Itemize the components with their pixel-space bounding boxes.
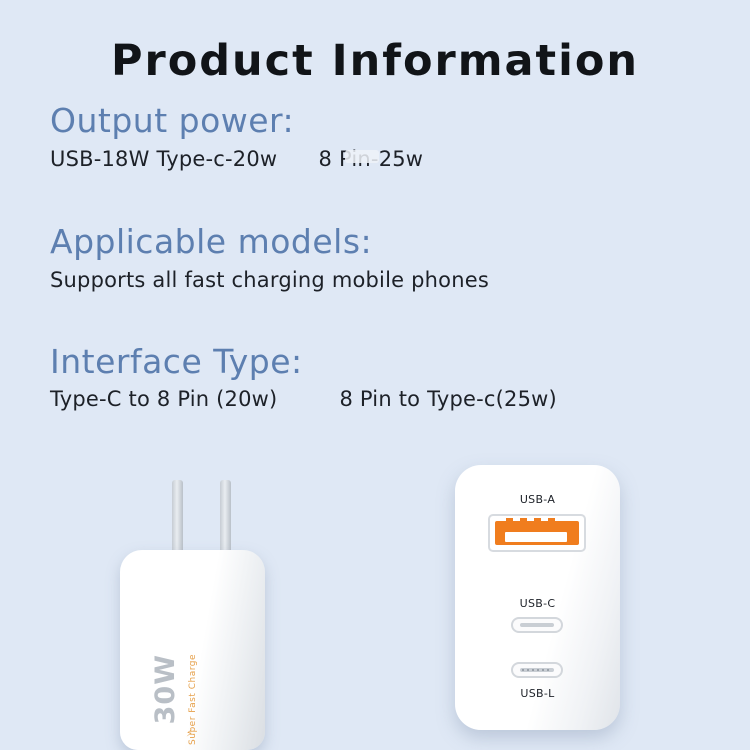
usb-c-port-icon: [511, 617, 563, 633]
interface-type-option-a: Type-C to 8 Pin (20w): [50, 387, 277, 411]
section-text-interface-type: Type-C to 8 Pin (20w)8 Pin to Type-c(25w…: [50, 387, 557, 411]
usb-a-port-icon: [488, 514, 586, 552]
usb-l-pins: [522, 669, 552, 671]
usb-c-tongue: [520, 623, 554, 627]
port-label-usb-l: USB-L: [455, 687, 620, 700]
product-information-page: Product Information Output power: USB-18…: [0, 0, 750, 750]
port-label-usb-a: USB-A: [455, 493, 620, 506]
plug-prong-left-icon: [172, 480, 183, 552]
page-title: Product Information: [0, 36, 750, 86]
usb-a-pin-4: [548, 518, 555, 524]
watermark-placeholder: [345, 150, 379, 163]
interface-type-option-b: 8 Pin to Type-c(25w): [339, 387, 556, 411]
usb-a-pin-1: [506, 518, 513, 524]
usb-a-inner: [495, 521, 579, 545]
section-heading-interface-type: Interface Type:: [50, 342, 303, 381]
left-charger-image: 30W Super Fast Charge ⚡: [120, 480, 265, 750]
charger-body: 30W Super Fast Charge ⚡: [120, 550, 265, 750]
usb-a-pin-3: [534, 518, 541, 524]
section-text-applicable-models: Supports all fast charging mobile phones: [50, 268, 489, 292]
usb-a-tongue: [505, 532, 567, 542]
lightning-bolt-icon: ⚡: [186, 726, 193, 737]
section-heading-output-power: Output power:: [50, 101, 294, 140]
charger-wattage-label: 30W: [150, 654, 181, 724]
plug-prong-right-icon: [220, 480, 231, 552]
usb-l-port-icon: [511, 662, 563, 678]
right-charger-image: USB-A USB-C USB-L: [455, 465, 620, 730]
usb-a-pin-2: [520, 518, 527, 524]
section-heading-applicable-models: Applicable models:: [50, 222, 372, 261]
product-photo-area: 30W Super Fast Charge ⚡ USB-A USB-C: [0, 440, 750, 750]
port-label-usb-c: USB-C: [455, 597, 620, 610]
